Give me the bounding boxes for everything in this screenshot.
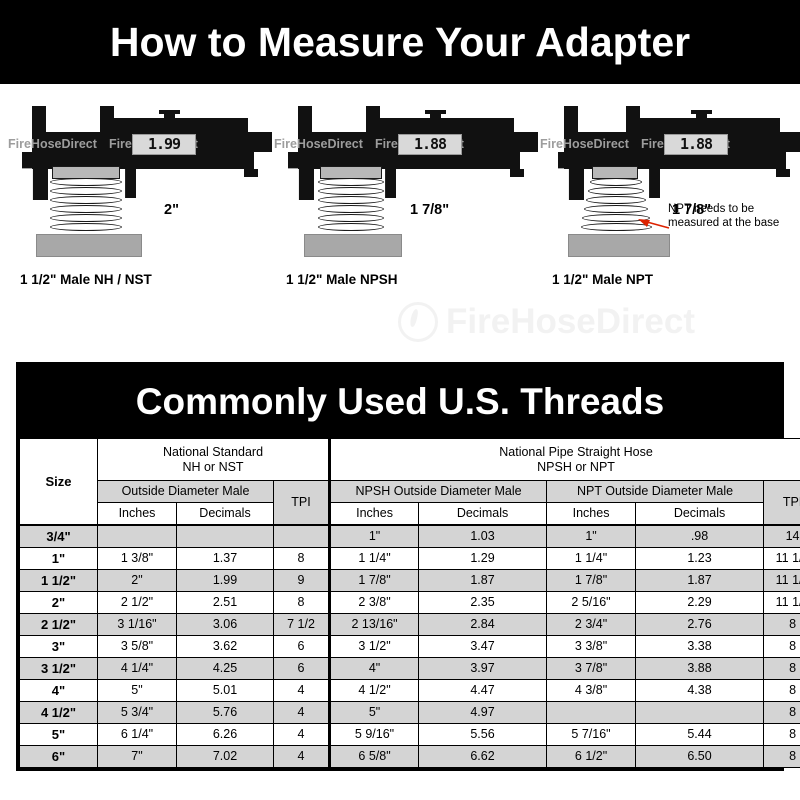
caliper-beam-tail-icon xyxy=(776,169,790,177)
cell-nh-inches: 2 1/2" xyxy=(98,592,177,614)
size-callout-npt: 1 7/8" xyxy=(672,202,711,218)
cell-npsh-decimals: 1.03 xyxy=(419,525,547,548)
caliper-lcd-display: 1.88 xyxy=(398,134,462,155)
page-title: How to Measure Your Adapter xyxy=(110,19,690,66)
cell-npsh-decimals: 3.97 xyxy=(419,658,547,680)
cell-size: 5" xyxy=(20,724,98,746)
cell-nh-tpi: 7 1/2 xyxy=(274,614,330,636)
cell-size: 2" xyxy=(20,592,98,614)
cell-nh-inches: 3 5/8" xyxy=(98,636,177,658)
table-row: 5" 6 1/4" 6.26 4 5 9/16" 5.56 5 7/16" 5.… xyxy=(20,724,800,746)
cell-nh-inches: 7" xyxy=(98,746,177,768)
cell-nh-inches: 5" xyxy=(98,680,177,702)
col-header-npsh-outside-diameter-male: NPSH Outside Diameter Male xyxy=(330,481,547,503)
table-header-row-sub: Outside Diameter Male TPI NPSH Outside D… xyxy=(20,481,800,503)
cell-npt-decimals: 3.88 xyxy=(636,658,764,680)
cell-nh-inches xyxy=(98,525,177,548)
cell-npsh-inches: 5 9/16" xyxy=(330,724,419,746)
cell-npsh-inches: 4 1/2" xyxy=(330,680,419,702)
caliper-thumbwheel-icon xyxy=(430,110,441,122)
col-group-national-standard: National Standard NH or NST xyxy=(98,439,330,481)
cell-npt-inches: 3 3/8" xyxy=(547,636,636,658)
cell-size: 6" xyxy=(20,746,98,768)
table-row: 3/4" 1" 1.03 1" .98 14 xyxy=(20,525,800,548)
cell-npt-inches: 1 1/4" xyxy=(547,548,636,570)
cell-npt-decimals: 2.29 xyxy=(636,592,764,614)
cell-npsh-inches: 1 1/4" xyxy=(330,548,419,570)
col-group-national-pipe-straight-hose: National Pipe Straight Hose NPSH or NPT xyxy=(330,439,800,481)
caption-npt: 1 1/2" Male NPT xyxy=(552,272,653,287)
cell-nh-tpi: 9 xyxy=(274,570,330,592)
cell-nh-decimals xyxy=(177,525,274,548)
cell-nh-inches: 3 1/16" xyxy=(98,614,177,636)
cell-nh-decimals: 7.02 xyxy=(177,746,274,768)
cell-size: 3 1/2" xyxy=(20,658,98,680)
cell-nh-inches: 6 1/4" xyxy=(98,724,177,746)
fitting-base-npsh xyxy=(304,234,402,257)
cell-size: 1 1/2" xyxy=(20,570,98,592)
cell-nh-tpi: 4 xyxy=(274,680,330,702)
table-banner: Commonly Used U.S. Threads xyxy=(19,365,781,438)
col-header-nh-outside-diameter-male: Outside Diameter Male xyxy=(98,481,274,503)
table-row: 4" 5" 5.01 4 4 1/2" 4.47 4 3/8" 4.38 8 xyxy=(20,680,800,702)
cell-npt-tpi: 14 xyxy=(764,525,800,548)
cell-npt-tpi: 11 1/2 xyxy=(764,592,800,614)
cell-size: 4" xyxy=(20,680,98,702)
cell-npt-inches: 4 3/8" xyxy=(547,680,636,702)
group-label-line1: National Standard xyxy=(98,445,328,460)
caliper-fixed-jaw-lower-icon xyxy=(288,152,314,200)
diagram-area: FireHoseDirect FireHoseDirect 1.99 2" 1 … xyxy=(0,84,800,356)
cell-npsh-decimals: 5.56 xyxy=(419,724,547,746)
threads-table-panel: Commonly Used U.S. Threads Size National… xyxy=(16,362,784,771)
cell-nh-decimals: 1.99 xyxy=(177,570,274,592)
caption-nh-nst: 1 1/2" Male NH / NST xyxy=(20,272,152,287)
npt-note-line2: measured at the base xyxy=(668,217,800,231)
cell-npt-inches xyxy=(547,702,636,724)
cell-npt-decimals: 3.38 xyxy=(636,636,764,658)
cell-nh-decimals: 3.06 xyxy=(177,614,274,636)
caliper-lcd-value: 1.88 xyxy=(680,137,712,152)
cell-npt-decimals xyxy=(636,702,764,724)
cell-npsh-inches: 6 5/8" xyxy=(330,746,419,768)
group-label-line2: NPSH or NPT xyxy=(331,460,800,475)
cell-npt-decimals: 5.44 xyxy=(636,724,764,746)
cell-npt-decimals: 4.38 xyxy=(636,680,764,702)
cell-nh-inches: 4 1/4" xyxy=(98,658,177,680)
caliper-nh-nst: FireHoseDirect FireHoseDirect 1.99 xyxy=(14,106,272,234)
col-header-npt-tpi: TPI xyxy=(764,481,800,526)
cell-nh-tpi xyxy=(274,525,330,548)
table-row: 2" 2 1/2" 2.51 8 2 3/8" 2.35 2 5/16" 2.2… xyxy=(20,592,800,614)
cell-npsh-decimals: 4.97 xyxy=(419,702,547,724)
fitting-nh-nst-icon xyxy=(50,166,124,242)
cell-npt-tpi: 8 xyxy=(764,702,800,724)
cell-npt-tpi: 11 1/2 xyxy=(764,548,800,570)
npt-note-arrow-icon xyxy=(638,218,670,230)
cell-nh-decimals: 6.26 xyxy=(177,724,274,746)
cell-nh-decimals: 4.25 xyxy=(177,658,274,680)
cell-npsh-decimals: 2.35 xyxy=(419,592,547,614)
caption-npsh: 1 1/2" Male NPSH xyxy=(286,272,397,287)
cell-npt-tpi: 8 xyxy=(764,614,800,636)
group-label-line1: National Pipe Straight Hose xyxy=(331,445,800,460)
cell-nh-decimals: 1.37 xyxy=(177,548,274,570)
cell-npsh-inches: 2 3/8" xyxy=(330,592,419,614)
cell-size: 4 1/2" xyxy=(20,702,98,724)
cell-nh-tpi: 4 xyxy=(274,746,330,768)
caliper-thumbwheel-icon xyxy=(696,110,707,122)
table-row: 4 1/2" 5 3/4" 5.76 4 5" 4.97 8 xyxy=(20,702,800,724)
cell-npt-inches: 5 7/16" xyxy=(547,724,636,746)
cell-npsh-inches: 1 7/8" xyxy=(330,570,419,592)
table-header-row-groups: Size National Standard NH or NST Nationa… xyxy=(20,439,800,481)
caliper-fixed-jaw-lower-icon xyxy=(558,152,584,200)
size-callout-npsh: 1 7/8" xyxy=(410,202,449,218)
cell-npt-inches: 2 5/16" xyxy=(547,592,636,614)
cell-npt-tpi: 8 xyxy=(764,724,800,746)
cell-nh-tpi: 6 xyxy=(274,658,330,680)
table-row: 3 1/2" 4 1/4" 4.25 6 4" 3.97 3 7/8" 3.88… xyxy=(20,658,800,680)
cell-npt-tpi: 8 xyxy=(764,746,800,768)
cell-npsh-inches: 1" xyxy=(330,525,419,548)
caliper-npsh: FireHoseDirect FireHoseDirect 1.88 xyxy=(280,106,538,234)
cell-npt-inches: 1" xyxy=(547,525,636,548)
col-header-npt-decimals: Decimals xyxy=(636,503,764,526)
cell-size: 2 1/2" xyxy=(20,614,98,636)
cell-npsh-inches: 4" xyxy=(330,658,419,680)
threads-table: Size National Standard NH or NST Nationa… xyxy=(19,438,800,768)
cell-npsh-decimals: 6.62 xyxy=(419,746,547,768)
cell-nh-decimals: 2.51 xyxy=(177,592,274,614)
page-header-banner: How to Measure Your Adapter xyxy=(0,0,800,84)
cell-npt-inches: 3 7/8" xyxy=(547,658,636,680)
cell-npsh-decimals: 4.47 xyxy=(419,680,547,702)
caliper-thumbwheel-icon xyxy=(164,110,175,122)
col-header-npsh-decimals: Decimals xyxy=(419,503,547,526)
cell-npsh-inches: 3 1/2" xyxy=(330,636,419,658)
diagram-npt: FireHoseDirect FireHoseDirect 1.88 xyxy=(546,84,800,356)
table-row: 3" 3 5/8" 3.62 6 3 1/2" 3.47 3 3/8" 3.38… xyxy=(20,636,800,658)
cell-npsh-decimals: 1.29 xyxy=(419,548,547,570)
cell-npt-inches: 1 7/8" xyxy=(547,570,636,592)
cell-size: 3" xyxy=(20,636,98,658)
col-header-size: Size xyxy=(20,439,98,526)
cell-nh-tpi: 6 xyxy=(274,636,330,658)
table-row: 2 1/2" 3 1/16" 3.06 7 1/2 2 13/16" 2.84 … xyxy=(20,614,800,636)
fitting-base-npt xyxy=(568,234,670,257)
cell-nh-inches: 5 3/4" xyxy=(98,702,177,724)
threads-table-body: 3/4" 1" 1.03 1" .98 14 1" 1 3/8" 1.37 8 … xyxy=(20,525,800,768)
cell-nh-decimals: 5.76 xyxy=(177,702,274,724)
cell-npsh-decimals: 1.87 xyxy=(419,570,547,592)
caliper-beam-tail-icon xyxy=(510,169,524,177)
col-header-npt-inches: Inches xyxy=(547,503,636,526)
cell-nh-inches: 2" xyxy=(98,570,177,592)
col-header-npt-outside-diameter-male: NPT Outside Diameter Male xyxy=(547,481,764,503)
cell-npsh-decimals: 3.47 xyxy=(419,636,547,658)
cell-npt-decimals: 1.87 xyxy=(636,570,764,592)
fitting-base-nh-nst xyxy=(36,234,142,257)
cell-npsh-inches: 2 13/16" xyxy=(330,614,419,636)
cell-npt-decimals: 1.23 xyxy=(636,548,764,570)
size-callout-nh-nst: 2" xyxy=(164,202,179,218)
table-header-row-subsub: Inches Decimals Inches Decimals Inches D… xyxy=(20,503,800,526)
caliper-lcd-display: 1.99 xyxy=(132,134,196,155)
cell-size: 3/4" xyxy=(20,525,98,548)
col-header-nh-tpi: TPI xyxy=(274,481,330,526)
cell-npt-decimals: .98 xyxy=(636,525,764,548)
fitting-npsh-icon xyxy=(318,166,392,242)
group-label-line2: NH or NST xyxy=(98,460,328,475)
cell-nh-tpi: 4 xyxy=(274,702,330,724)
cell-npt-tpi: 8 xyxy=(764,680,800,702)
cell-npt-tpi: 8 xyxy=(764,658,800,680)
cell-nh-tpi: 4 xyxy=(274,724,330,746)
caliper-fixed-jaw-lower-icon xyxy=(22,152,48,200)
table-row: 6" 7" 7.02 4 6 5/8" 6.62 6 1/2" 6.50 8 xyxy=(20,746,800,768)
cell-nh-tpi: 8 xyxy=(274,592,330,614)
caliper-beam-tail-icon xyxy=(244,169,258,177)
caliper-lcd-value: 1.99 xyxy=(148,137,180,152)
cell-npt-tpi: 8 xyxy=(764,636,800,658)
col-header-npsh-inches: Inches xyxy=(330,503,419,526)
cell-nh-decimals: 3.62 xyxy=(177,636,274,658)
cell-npt-inches: 6 1/2" xyxy=(547,746,636,768)
cell-npt-inches: 2 3/4" xyxy=(547,614,636,636)
cell-size: 1" xyxy=(20,548,98,570)
table-row: 1 1/2" 2" 1.99 9 1 7/8" 1.87 1 7/8" 1.87… xyxy=(20,570,800,592)
cell-nh-decimals: 5.01 xyxy=(177,680,274,702)
col-header-nh-decimals: Decimals xyxy=(177,503,274,526)
cell-npsh-decimals: 2.84 xyxy=(419,614,547,636)
cell-npt-decimals: 6.50 xyxy=(636,746,764,768)
cell-npt-decimals: 2.76 xyxy=(636,614,764,636)
table-title: Commonly Used U.S. Threads xyxy=(136,381,664,423)
cell-npsh-inches: 5" xyxy=(330,702,419,724)
diagram-nh-nst: FireHoseDirect FireHoseDirect 1.99 2" 1 … xyxy=(14,84,276,356)
cell-npt-tpi: 11 1/2 xyxy=(764,570,800,592)
caliper-lcd-display: 1.88 xyxy=(664,134,728,155)
table-row: 1" 1 3/8" 1.37 8 1 1/4" 1.29 1 1/4" 1.23… xyxy=(20,548,800,570)
col-header-nh-inches: Inches xyxy=(98,503,177,526)
cell-nh-tpi: 8 xyxy=(274,548,330,570)
cell-nh-inches: 1 3/8" xyxy=(98,548,177,570)
diagram-npsh: FireHoseDirect FireHoseDirect 1.88 1 7/8… xyxy=(280,84,542,356)
caliper-lcd-value: 1.88 xyxy=(414,137,446,152)
